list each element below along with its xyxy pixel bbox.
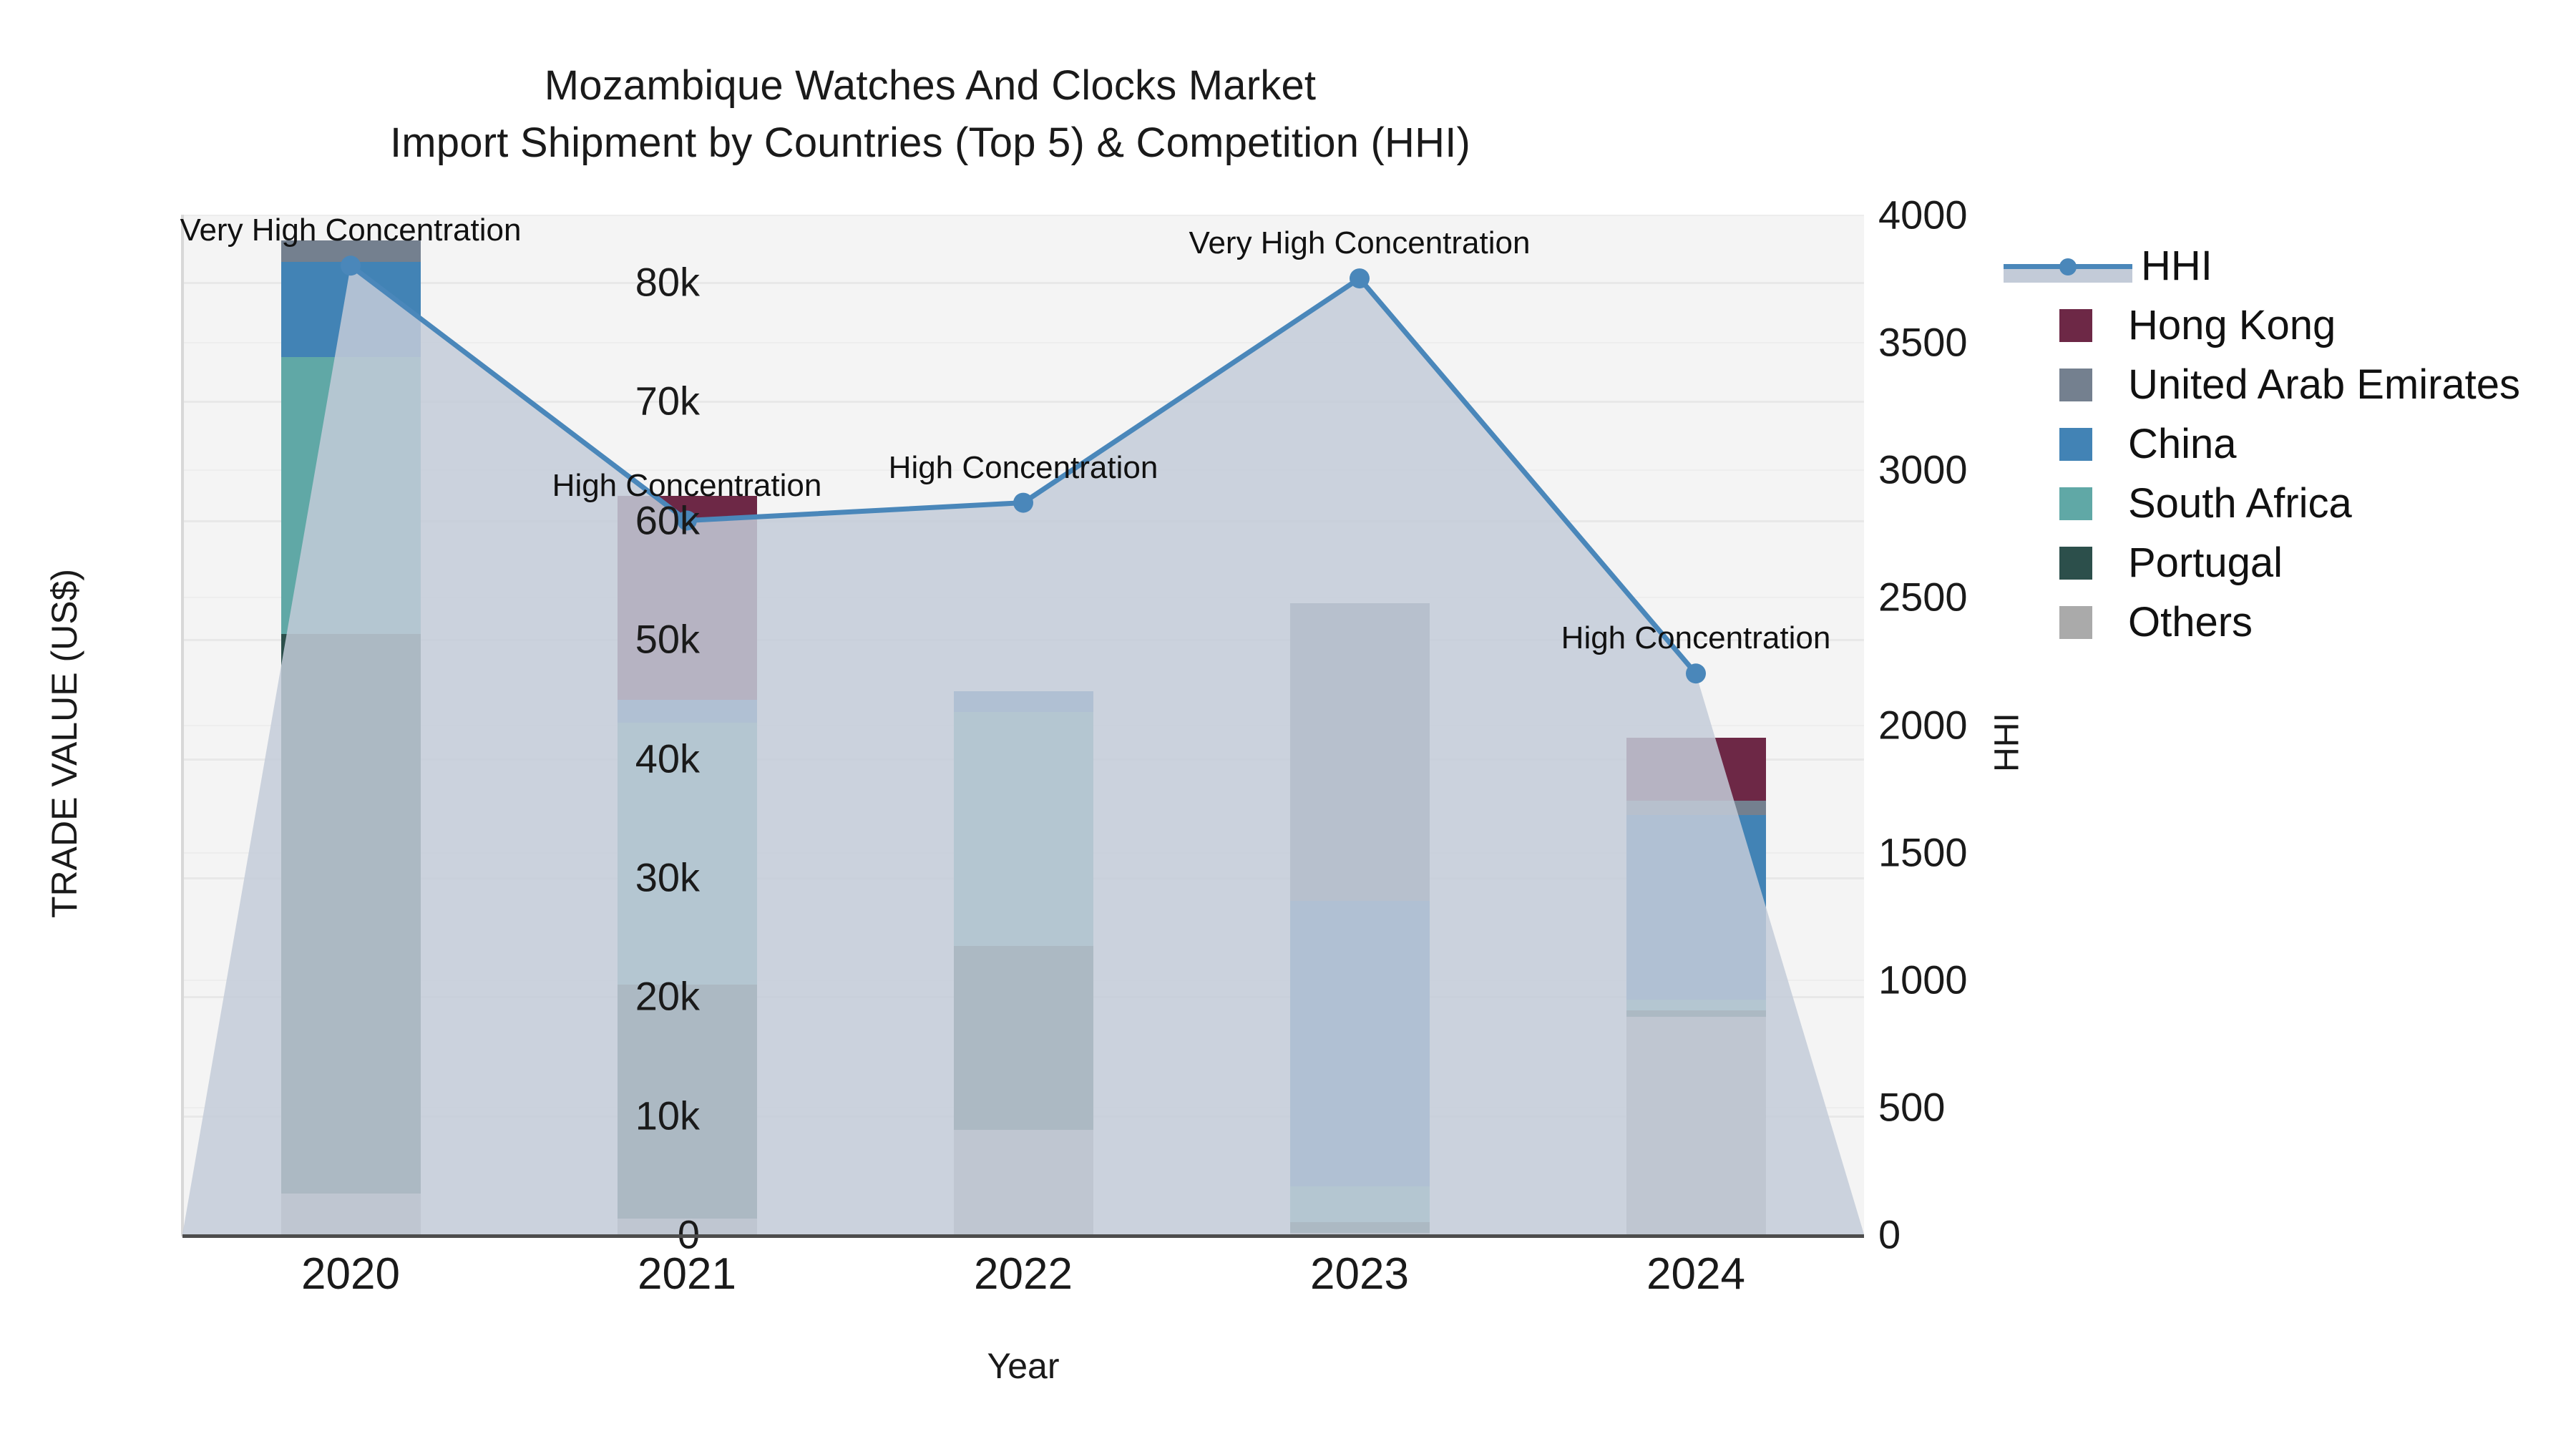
chart-legend: HHIHong KongUnited Arab EmiratesChinaSou… bbox=[2004, 236, 2520, 652]
bar-segment[interactable] bbox=[1626, 738, 1766, 801]
bar-segment[interactable] bbox=[281, 634, 421, 1194]
bar-segment[interactable] bbox=[954, 1130, 1093, 1234]
concentration-annotation: Very High Concentration bbox=[180, 213, 522, 248]
legend-item[interactable]: China bbox=[2004, 414, 2520, 474]
legend-color-swatch bbox=[2059, 487, 2092, 520]
gridline-minor bbox=[182, 342, 1864, 343]
x-axis-tick-label: 2022 bbox=[880, 1249, 1166, 1299]
bar-segment[interactable] bbox=[1626, 1017, 1766, 1234]
x-axis-tick-label: 2023 bbox=[1216, 1249, 1503, 1299]
x-axis-label: Year bbox=[182, 1345, 1864, 1387]
bar-segment[interactable] bbox=[281, 262, 421, 357]
legend-item[interactable]: Hong Kong bbox=[2004, 296, 2520, 355]
legend-item[interactable]: Portugal bbox=[2004, 533, 2520, 592]
bar-segment[interactable] bbox=[1290, 1186, 1430, 1222]
legend-item[interactable]: Others bbox=[2004, 592, 2520, 652]
y-axis-tick-label: 20k bbox=[414, 973, 700, 1020]
bar-segment[interactable] bbox=[1290, 603, 1430, 901]
bar-segment[interactable] bbox=[281, 1194, 421, 1234]
bar-segment[interactable] bbox=[1626, 1010, 1766, 1016]
y-axis-line bbox=[181, 215, 184, 1236]
bar-segment[interactable] bbox=[954, 946, 1093, 1129]
x-axis-tick-label: 2024 bbox=[1553, 1249, 1839, 1299]
concentration-annotation: Very High Concentration bbox=[1189, 225, 1531, 261]
legend-label: United Arab Emirates bbox=[2128, 361, 2520, 409]
y-axis-tick-label: 30k bbox=[414, 854, 700, 900]
y-axis-tick-label: 10k bbox=[414, 1092, 700, 1138]
bar-segment[interactable] bbox=[954, 712, 1093, 947]
legend-item[interactable]: HHI bbox=[2004, 236, 2520, 296]
legend-label: Others bbox=[2128, 598, 2253, 646]
y-axis-label: TRADE VALUE (US$) bbox=[44, 493, 85, 994]
bar-segment[interactable] bbox=[618, 700, 757, 723]
legend-label: Hong Kong bbox=[2128, 301, 2336, 349]
bar-segment[interactable] bbox=[1626, 801, 1766, 815]
gridline-minor bbox=[182, 597, 1864, 598]
concentration-annotation: High Concentration bbox=[1561, 620, 1831, 656]
legend-color-swatch bbox=[2059, 606, 2092, 639]
chart-title: Mozambique Watches And Clocks Market bbox=[0, 57, 1860, 114]
x-axis-tick-label: 2020 bbox=[208, 1249, 494, 1299]
legend-label: China bbox=[2128, 420, 2237, 468]
y-axis-tick-label: 80k bbox=[414, 259, 700, 306]
legend-label: South Africa bbox=[2128, 479, 2352, 527]
legend-color-swatch bbox=[2059, 547, 2092, 580]
x-axis-tick-label: 2021 bbox=[544, 1249, 830, 1299]
legend-label: Portugal bbox=[2128, 539, 2283, 587]
y2-axis-tick-label: 4000 bbox=[1878, 192, 2165, 238]
bar-segment[interactable] bbox=[954, 691, 1093, 711]
legend-color-swatch bbox=[2059, 309, 2092, 342]
bar-segment[interactable] bbox=[1626, 815, 1766, 1000]
legend-color-swatch bbox=[2059, 369, 2092, 401]
legend-label: HHI bbox=[2141, 242, 2212, 290]
y2-axis-tick-label: 500 bbox=[1878, 1083, 2165, 1130]
y2-axis-tick-label: 0 bbox=[1878, 1211, 2165, 1258]
y-axis-tick-label: 40k bbox=[414, 735, 700, 781]
chart-canvas: Mozambique Watches And Clocks Market Imp… bbox=[0, 0, 2576, 1449]
chart-title-block: Mozambique Watches And Clocks Market Imp… bbox=[0, 57, 1860, 172]
bar-segment[interactable] bbox=[281, 357, 421, 635]
y-axis-tick-label: 70k bbox=[414, 378, 700, 424]
bar-segment[interactable] bbox=[1290, 901, 1430, 1186]
bar-segment[interactable] bbox=[1290, 1222, 1430, 1233]
x-axis-line bbox=[182, 1234, 1864, 1238]
legend-line-marker bbox=[2004, 250, 2132, 283]
chart-subtitle: Import Shipment by Countries (Top 5) & C… bbox=[0, 114, 1860, 172]
y-axis-tick-label: 50k bbox=[414, 616, 700, 663]
y-axis-tick-label: 60k bbox=[414, 497, 700, 543]
concentration-annotation: High Concentration bbox=[889, 450, 1158, 486]
bar-segment[interactable] bbox=[1626, 1000, 1766, 1010]
legend-item[interactable]: United Arab Emirates bbox=[2004, 355, 2520, 414]
legend-color-swatch bbox=[2059, 428, 2092, 461]
legend-line-dot bbox=[2059, 258, 2077, 275]
legend-item[interactable]: South Africa bbox=[2004, 474, 2520, 533]
